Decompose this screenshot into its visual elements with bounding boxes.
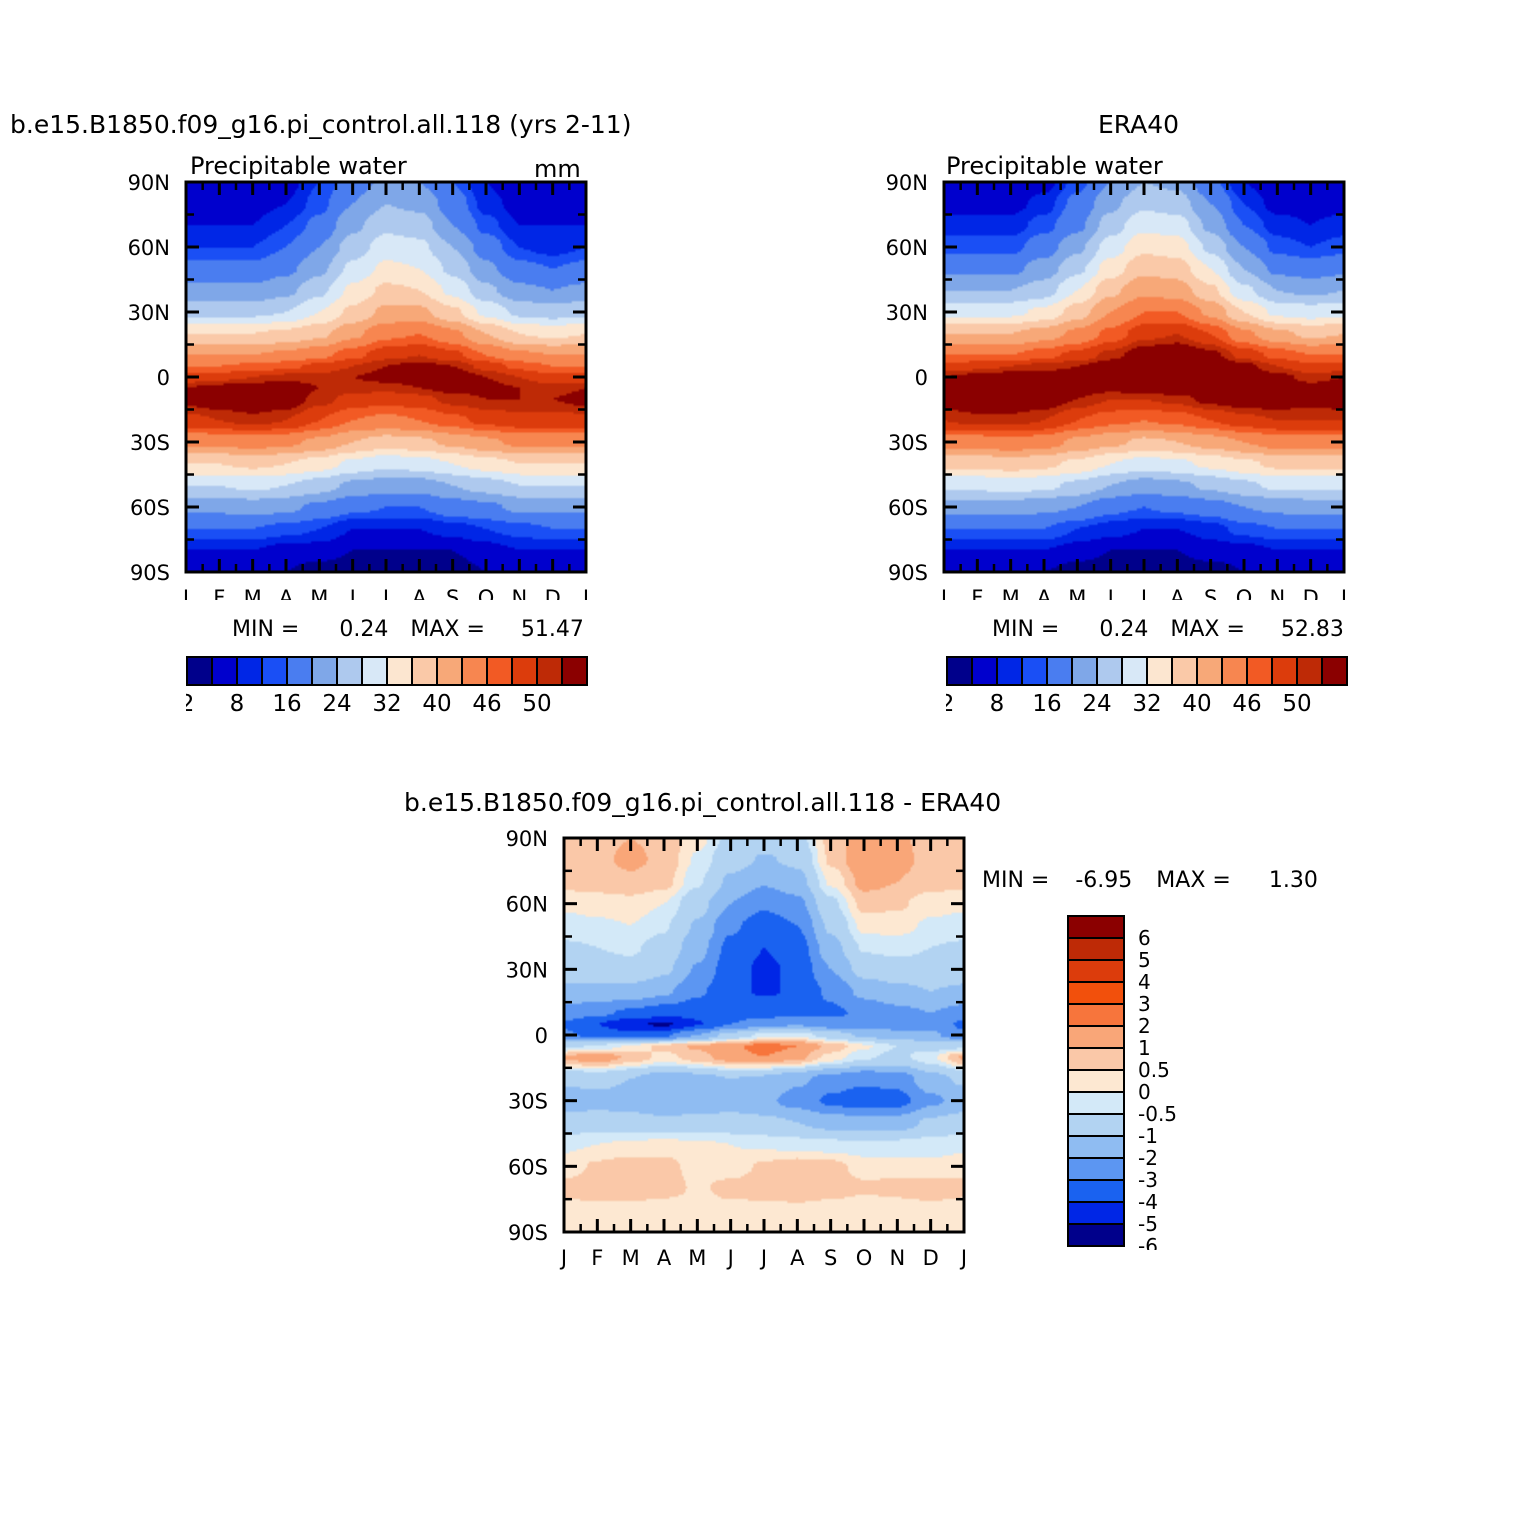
month-tick-label: N [1269, 586, 1285, 600]
colorbar-cell[interactable] [237, 657, 262, 685]
month-tick-label: A [412, 586, 427, 600]
colorbar-cell[interactable] [1272, 657, 1297, 685]
colorbar-cell[interactable] [1068, 960, 1124, 982]
month-tick-label: S [1204, 586, 1217, 600]
colorbar-cell[interactable] [312, 657, 337, 685]
month-tick-label: S [824, 1246, 837, 1270]
colorbar-tick-label: 2 [1138, 1014, 1151, 1038]
colorbar-tick-label: 50 [522, 691, 551, 717]
colorbar-cell[interactable] [1068, 1070, 1124, 1092]
model-plot: JFMAMJJASONDJ90N60N30N030S60S90S [50, 170, 600, 600]
colorbar-cell[interactable] [412, 657, 437, 685]
colorbar-cell[interactable] [1068, 1202, 1124, 1224]
colorbar-tick-label: 3 [1138, 992, 1151, 1016]
colorbar-cell[interactable] [487, 657, 512, 685]
latitude-tick-label: 60S [508, 1155, 548, 1179]
latitude-tick-label: 30S [888, 431, 928, 455]
model-colorbar[interactable]: 28162432404650 [186, 655, 588, 717]
colorbar-tick-label: 46 [1232, 691, 1261, 717]
colorbar-cell[interactable] [1172, 657, 1197, 685]
colorbar-cell[interactable] [287, 657, 312, 685]
month-tick-label: J [559, 1246, 567, 1270]
latitude-tick-label: 30N [128, 301, 170, 325]
latitude-tick-label: 90N [506, 827, 548, 851]
colorbar-cell[interactable] [1322, 657, 1347, 685]
month-tick-label: F [971, 586, 983, 600]
colorbar-tick-label: 40 [1182, 691, 1211, 717]
month-tick-label: N [889, 1246, 905, 1270]
colorbar-tick-label: 6 [1138, 926, 1151, 950]
colorbar-cell[interactable] [1068, 1048, 1124, 1070]
colorbar-tick-label: -6 [1138, 1234, 1158, 1250]
month-tick-label: J [181, 586, 189, 600]
colorbar-cell[interactable] [1068, 1004, 1124, 1026]
model-min-value: 0.24 [339, 617, 388, 642]
obs-min-label: MIN = [992, 617, 1059, 642]
colorbar-cell[interactable] [1068, 1158, 1124, 1180]
colorbar-cell[interactable] [1097, 657, 1122, 685]
month-tick-label: J [726, 1246, 734, 1270]
model-max-value: 51.47 [521, 617, 584, 642]
month-tick-label: M [310, 586, 328, 600]
colorbar-cell[interactable] [947, 657, 972, 685]
diff-minmax: MIN = -6.95 MAX = 1.30 [982, 868, 1318, 893]
colorbar-cell[interactable] [512, 657, 537, 685]
month-tick-label: D [545, 586, 561, 600]
colorbar-tick-label: 8 [990, 691, 1005, 717]
colorbar-cell[interactable] [1222, 657, 1247, 685]
colorbar-cell[interactable] [262, 657, 287, 685]
colorbar-tick-label: 2 [946, 691, 954, 717]
month-tick-label: J [381, 586, 389, 600]
obs-max-value: 52.83 [1281, 617, 1344, 642]
colorbar-cell[interactable] [362, 657, 387, 685]
colorbar-cell[interactable] [1068, 982, 1124, 1004]
month-tick-label: S [446, 586, 459, 600]
colorbar-cell[interactable] [462, 657, 487, 685]
month-tick-label: J [1139, 586, 1147, 600]
colorbar-cell[interactable] [1068, 1114, 1124, 1136]
month-tick-label: O [856, 1246, 873, 1270]
colorbar-cell[interactable] [1068, 1180, 1124, 1202]
colorbar-tick-label: 50 [1282, 691, 1311, 717]
month-tick-label: A [1170, 586, 1185, 600]
model-panel-title: b.e15.B1850.f09_g16.pi_control.all.118 (… [10, 110, 631, 139]
month-tick-label: J [1106, 586, 1114, 600]
month-tick-label: F [213, 586, 225, 600]
colorbar-tick-label: -3 [1138, 1168, 1158, 1192]
colorbar-tick-label: -2 [1138, 1146, 1158, 1170]
latitude-tick-label: 60S [888, 496, 928, 520]
colorbar-cell[interactable] [1247, 657, 1272, 685]
month-tick-label: A [790, 1246, 805, 1270]
month-tick-label: J [348, 586, 356, 600]
colorbar-tick-label: 24 [322, 691, 351, 717]
latitude-tick-label: 0 [915, 366, 928, 390]
month-tick-label: O [1236, 586, 1253, 600]
month-tick-label: A [657, 1246, 672, 1270]
diff-panel-title: b.e15.B1850.f09_g16.pi_control.all.118 -… [404, 788, 1001, 817]
colorbar-tick-label: -1 [1138, 1124, 1158, 1148]
colorbar-cell[interactable] [1068, 1136, 1124, 1158]
latitude-tick-label: 30N [886, 301, 928, 325]
colorbar-tick-label: 16 [1032, 691, 1061, 717]
colorbar-tick-label: 40 [422, 691, 451, 717]
colorbar-tick-label: -4 [1138, 1190, 1158, 1214]
colorbar-cell[interactable] [1047, 657, 1072, 685]
latitude-tick-label: 90S [888, 561, 928, 585]
month-tick-label: J [1339, 586, 1347, 600]
colorbar-tick-label: 32 [1132, 691, 1161, 717]
colorbar-cell[interactable] [1072, 657, 1097, 685]
latitude-tick-label: 30N [506, 958, 548, 982]
month-tick-label: A [279, 586, 294, 600]
colorbar-cell[interactable] [387, 657, 412, 685]
colorbar-cell[interactable] [997, 657, 1022, 685]
colorbar-cell[interactable] [562, 657, 587, 685]
month-tick-label: D [1303, 586, 1319, 600]
model-min-label: MIN = [232, 617, 299, 642]
latitude-tick-label: 60N [128, 236, 170, 260]
colorbar-cell[interactable] [1068, 1224, 1124, 1246]
latitude-tick-label: 30S [508, 1090, 548, 1114]
obs-colorbar[interactable]: 28162432404650 [946, 655, 1348, 717]
diff-max-label: MAX = [1156, 868, 1231, 893]
diff-min-value: -6.95 [1075, 868, 1132, 893]
latitude-tick-label: 90N [128, 171, 170, 195]
month-tick-label: J [759, 1246, 767, 1270]
month-tick-label: M [1068, 586, 1086, 600]
month-tick-label: D [923, 1246, 939, 1270]
colorbar-cell[interactable] [212, 657, 237, 685]
colorbar-tick-label: 2 [186, 691, 194, 717]
month-tick-label: F [591, 1246, 603, 1270]
colorbar-tick-label: 16 [272, 691, 301, 717]
latitude-tick-label: 0 [535, 1024, 548, 1048]
obs-min-value: 0.24 [1099, 617, 1148, 642]
colorbar-cell[interactable] [1068, 938, 1124, 960]
obs-max-label: MAX = [1170, 617, 1245, 642]
month-tick-label: A [1037, 586, 1052, 600]
latitude-tick-label: 60S [130, 496, 170, 520]
colorbar-cell[interactable] [537, 657, 562, 685]
diff-plot: JFMAMJJASONDJ90N60N30N030S60S90S [440, 826, 1000, 1276]
colorbar-cell[interactable] [1068, 916, 1124, 938]
colorbar-tick-label: 24 [1082, 691, 1111, 717]
latitude-tick-label: 90S [130, 561, 170, 585]
colorbar-cell[interactable] [337, 657, 362, 685]
obs-panel-title: ERA40 [1098, 110, 1179, 139]
colorbar-tick-label: 46 [472, 691, 501, 717]
colorbar-cell[interactable] [187, 657, 212, 685]
latitude-tick-label: 60N [506, 893, 548, 917]
latitude-tick-label: 90S [508, 1221, 548, 1245]
obs-minmax: MIN = 0.24 MAX = 52.83 [992, 617, 1344, 642]
colorbar-tick-label: 32 [372, 691, 401, 717]
colorbar-tick-label: 0 [1138, 1080, 1151, 1104]
diff-colorbar[interactable]: 6543210.50-0.5-1-2-3-4-5-6 [1066, 914, 1186, 1250]
colorbar-cell[interactable] [1147, 657, 1172, 685]
month-tick-label: M [1002, 586, 1020, 600]
month-tick-label: M [244, 586, 262, 600]
latitude-tick-label: 60N [886, 236, 928, 260]
latitude-tick-label: 90N [886, 171, 928, 195]
month-tick-label: J [581, 586, 589, 600]
colorbar-cell[interactable] [972, 657, 997, 685]
model-max-label: MAX = [410, 617, 485, 642]
diff-min-label: MIN = [982, 868, 1049, 893]
colorbar-tick-label: 5 [1138, 948, 1151, 972]
colorbar-tick-label: 1 [1138, 1036, 1151, 1060]
month-tick-label: M [622, 1246, 640, 1270]
obs-plot: JFMAMJJASONDJ90N60N30N030S60S90S [808, 170, 1358, 600]
month-tick-label: J [959, 1246, 967, 1270]
colorbar-tick-label: -5 [1138, 1212, 1158, 1236]
colorbar-tick-label: 4 [1138, 970, 1151, 994]
month-tick-label: J [939, 586, 947, 600]
month-tick-label: M [688, 1246, 706, 1270]
colorbar-tick-label: 8 [230, 691, 245, 717]
colorbar-cell[interactable] [1068, 1026, 1124, 1048]
colorbar-cell[interactable] [1068, 1092, 1124, 1114]
month-tick-label: N [511, 586, 527, 600]
colorbar-cell[interactable] [1197, 657, 1222, 685]
diff-max-value: 1.30 [1269, 868, 1318, 893]
month-tick-label: O [478, 586, 495, 600]
colorbar-cell[interactable] [1022, 657, 1047, 685]
colorbar-cell[interactable] [437, 657, 462, 685]
colorbar-tick-label: 0.5 [1138, 1058, 1170, 1082]
colorbar-cell[interactable] [1122, 657, 1147, 685]
latitude-tick-label: 0 [157, 366, 170, 390]
model-minmax: MIN = 0.24 MAX = 51.47 [232, 617, 584, 642]
colorbar-cell[interactable] [1297, 657, 1322, 685]
colorbar-tick-label: -0.5 [1138, 1102, 1177, 1126]
latitude-tick-label: 30S [130, 431, 170, 455]
